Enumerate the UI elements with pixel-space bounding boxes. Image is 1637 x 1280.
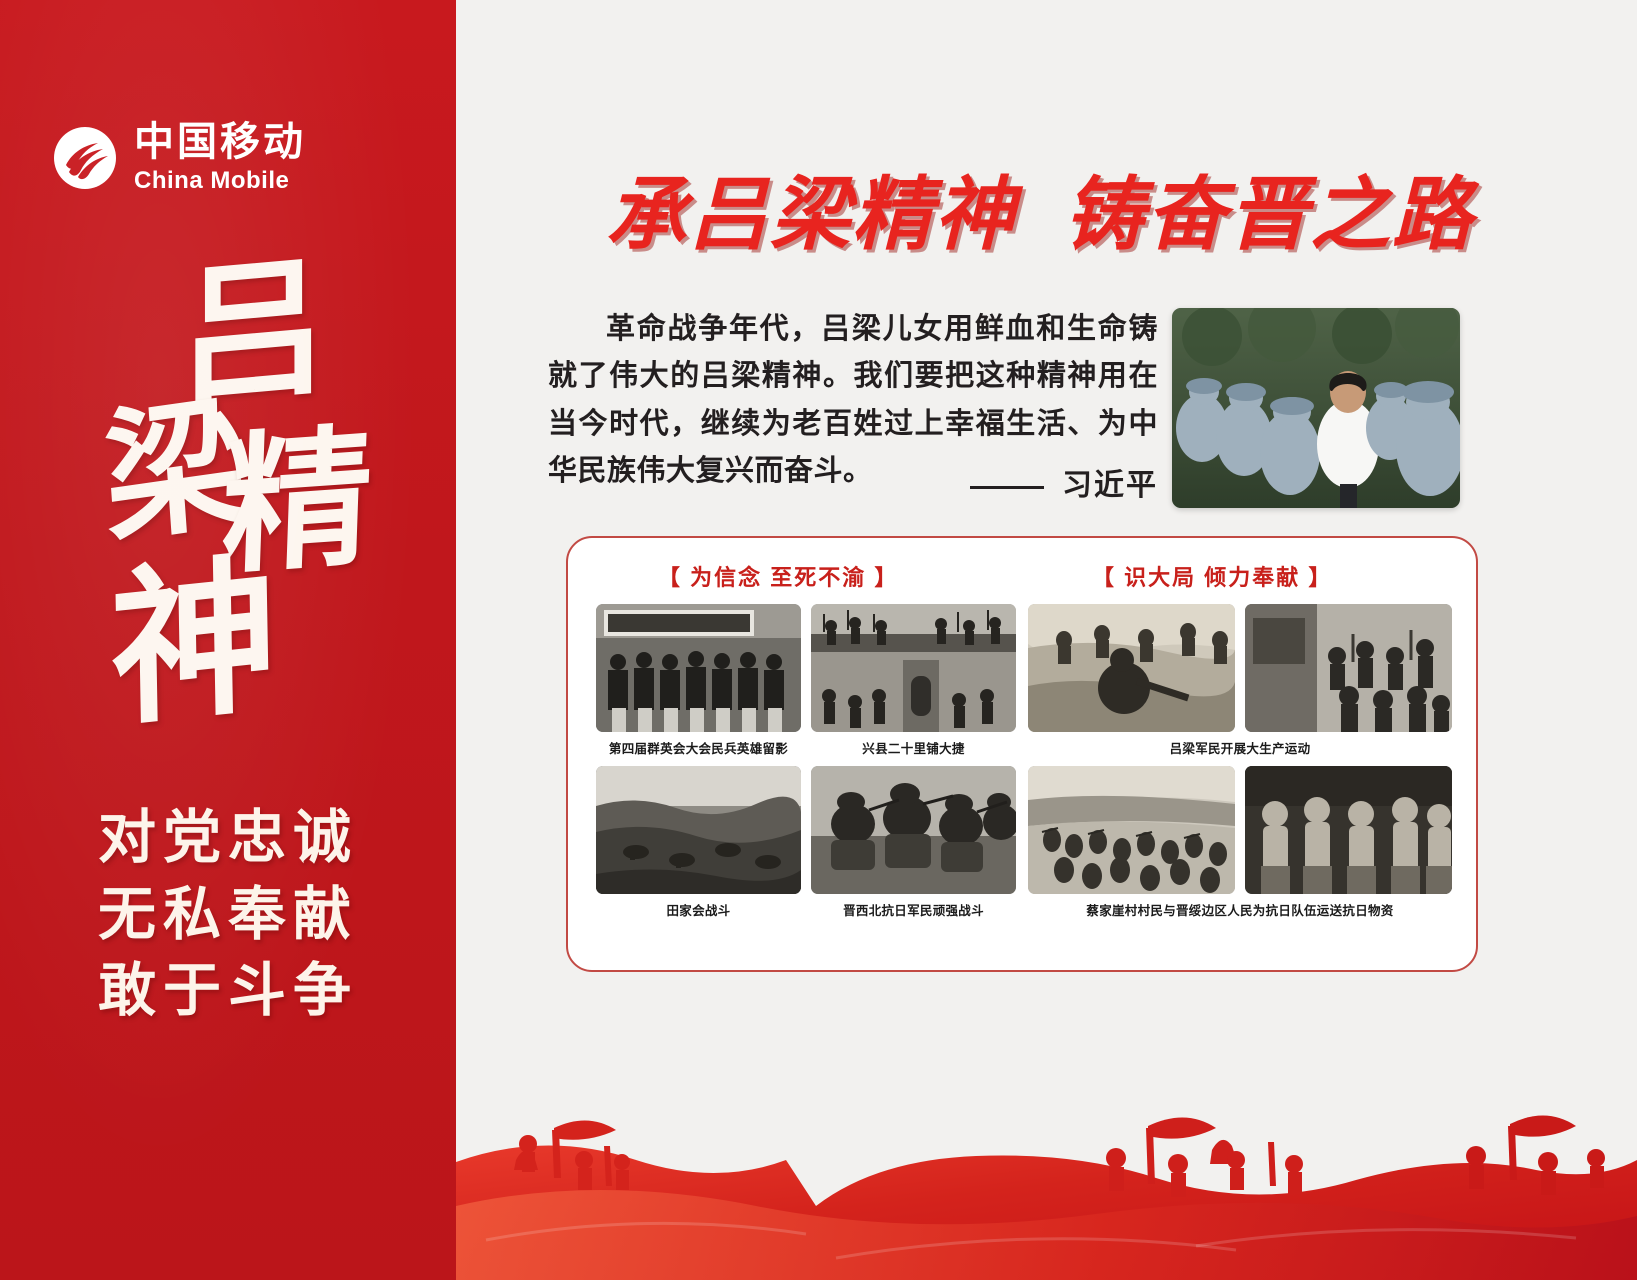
history-photo-5 xyxy=(1028,604,1235,732)
history-photo-3 xyxy=(596,766,801,894)
history-photo-4 xyxy=(811,766,1016,894)
china-mobile-logo-icon xyxy=(52,125,118,191)
leader-photo xyxy=(1172,308,1460,508)
photo-caption-1: 第四届群英会大会民兵英雄留影 xyxy=(596,738,801,757)
photo-caption-6: 蔡家崖村村民与晋绥边区人民为抗日队伍运送抗日物资 xyxy=(1028,900,1452,919)
brand-logo: 中国移动 China Mobile xyxy=(52,122,306,193)
history-photo-2 xyxy=(811,604,1016,732)
page-title: 承吕梁精神铸奋晋之路 xyxy=(606,150,1506,266)
caption-row-2: 田家会战斗 晋西北抗日军民顽强战斗 xyxy=(596,894,1016,928)
caption-row-1: 第四届群英会大会民兵英雄留影 兴县二十里铺大捷 xyxy=(596,732,1016,766)
bottom-red-silhouette-art xyxy=(456,1010,1637,1280)
section-heading-dedication: 【 识大局 倾力奉献 】 xyxy=(1092,560,1332,592)
calligraphy-lvliang-spirit: 吕 梁 精 神 xyxy=(0,250,456,770)
history-photo-6 xyxy=(1245,604,1452,732)
left-red-panel: 中国移动 China Mobile 吕 梁 精 神 对党忠诚 无私奉献 敢于斗争 xyxy=(0,0,456,1280)
quote-attribution: 习近平 xyxy=(548,460,1158,504)
page-title-part-1: 承吕梁精神 xyxy=(606,168,1016,261)
section-heading-belief: 【 为信念 至死不渝 】 xyxy=(658,560,898,592)
slogan-item-2: 无私奉献 xyxy=(0,877,456,954)
photo-row-4 xyxy=(1028,766,1452,894)
slogan-item-1: 对党忠诚 xyxy=(0,800,456,877)
photo-grid-dedication: 吕梁军民开展大生产运动 xyxy=(1028,604,1452,928)
slogan-list: 对党忠诚 无私奉献 敢于斗争 xyxy=(0,800,456,1030)
history-photo-panel: 【 为信念 至死不渝 】 【 识大局 倾力奉献 】 xyxy=(566,536,1478,972)
brand-name-en: China Mobile xyxy=(134,169,306,193)
history-photo-7 xyxy=(1028,766,1235,894)
photo-caption-4: 晋西北抗日军民顽强战斗 xyxy=(811,900,1016,919)
photo-row-3 xyxy=(1028,604,1452,732)
photo-row-2 xyxy=(596,766,1016,894)
calligraphy-char-4: 神 xyxy=(109,561,279,724)
page-title-part-2: 铸奋晋之路 xyxy=(1064,168,1474,261)
photo-caption-5: 吕梁军民开展大生产运动 xyxy=(1028,738,1452,757)
slogan-item-3: 敢于斗争 xyxy=(0,953,456,1030)
history-photo-8 xyxy=(1245,766,1452,894)
history-photo-1 xyxy=(596,604,801,732)
brand-name-cn: 中国移动 xyxy=(134,122,306,162)
poster-canvas: 中国移动 China Mobile 吕 梁 精 神 对党忠诚 无私奉献 敢于斗争… xyxy=(0,0,1637,1280)
brand-logo-text: 中国移动 China Mobile xyxy=(134,122,306,193)
photo-caption-3: 田家会战斗 xyxy=(596,900,801,919)
calligraphy-char-1: 吕 xyxy=(178,261,327,404)
attribution-name: 习近平 xyxy=(1062,469,1158,502)
attribution-dash-icon xyxy=(970,486,1044,489)
photo-caption-2: 兴县二十里铺大捷 xyxy=(811,738,1016,757)
photo-grid-belief: 第四届群英会大会民兵英雄留影 兴县二十里铺大捷 xyxy=(596,604,1016,928)
photo-row-1 xyxy=(596,604,1016,732)
